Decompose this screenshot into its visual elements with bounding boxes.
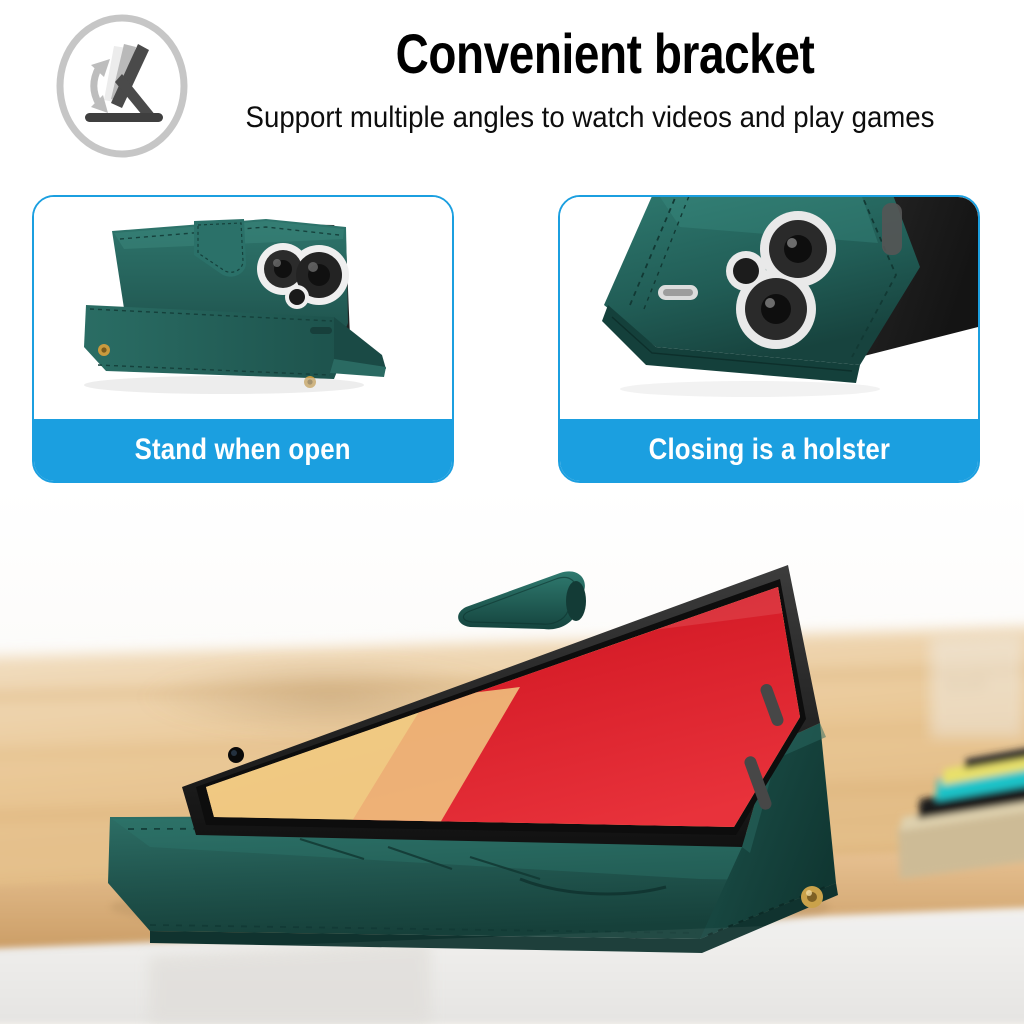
- feature-caption-closed-holster: Closing is a holster: [560, 419, 978, 481]
- feature-caption-text: Closing is a holster: [648, 433, 889, 467]
- header: Convenient bracket Support multiple angl…: [0, 0, 1024, 175]
- hero-product-photo: Peak: [0, 487, 1024, 1024]
- feature-caption-stand-open: Stand when open: [34, 419, 452, 481]
- feature-card-closed-holster[interactable]: Closing is a holster: [558, 195, 980, 483]
- page-subtitle: Support multiple angles to watch videos …: [222, 98, 958, 138]
- feature-card-row: Stand when open: [0, 195, 1024, 487]
- feature-photo-stand-open: [34, 197, 452, 423]
- adjustable-stand-icon: [52, 12, 192, 160]
- page-title: Convenient bracket: [281, 22, 929, 88]
- product-feature-page: Convenient bracket Support multiple angl…: [0, 0, 1024, 1024]
- feature-card-stand-open[interactable]: Stand when open: [32, 195, 454, 483]
- feature-caption-text: Stand when open: [135, 433, 351, 467]
- feature-photo-closed-holster: [560, 197, 978, 423]
